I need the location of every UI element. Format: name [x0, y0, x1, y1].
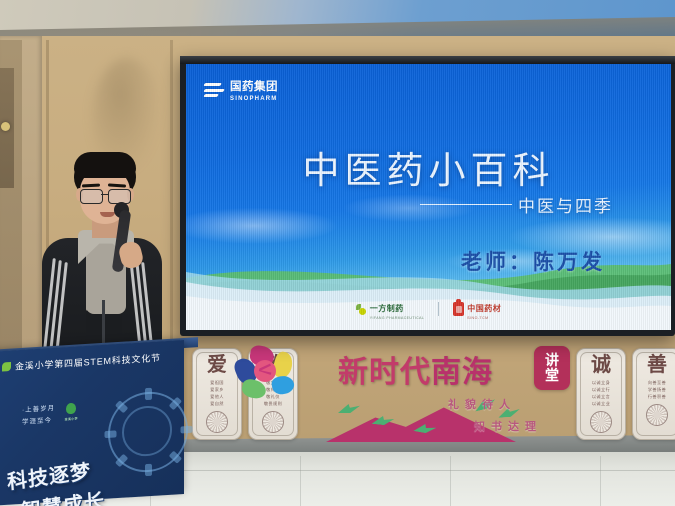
- logo-divider: [438, 302, 439, 316]
- banner-seal-text-2: 堂: [545, 368, 559, 383]
- virtue-line: 以诚立言: [592, 394, 610, 400]
- ice-crack-seal-icon: [590, 411, 612, 433]
- banner-seal: 讲 堂: [534, 346, 570, 390]
- ice-crack-seal-icon: [262, 411, 284, 433]
- ice-crack-seal-icon: [206, 411, 228, 433]
- hair-front: [74, 152, 136, 178]
- screen-surface: 国药集团 SINOPHARM 中医药小百科 中医与四季 老师：陈万发 一方制药: [186, 64, 671, 330]
- screen-bezel: [180, 56, 675, 64]
- partner-name-cn: 中国药材: [467, 304, 501, 313]
- banner-title: 新 时 代 南 海: [338, 358, 493, 388]
- leaf-icon: [2, 361, 11, 371]
- yifang-logo: 一方制药 YIFANG PHARMACEUTICAL: [356, 298, 425, 320]
- yifang-logo-text: 一方制药 YIFANG PHARMACEUTICAL: [370, 298, 425, 320]
- banner-title-char: 时: [369, 358, 399, 388]
- banner-motto: 礼貌待人 知书达理: [448, 396, 542, 434]
- virtue-panel-char: 诚: [591, 355, 611, 375]
- virtue-line: 爱自然: [210, 401, 224, 407]
- door-knob-icon: [1, 122, 10, 131]
- banner-title-char: 南: [431, 358, 461, 388]
- sinopharm-logo: 国药集团 SINOPHARM: [204, 82, 278, 102]
- slide-subtitle: 中医与四季: [420, 192, 613, 217]
- glasses-icon: [78, 189, 132, 202]
- virtue-line: 行善积善: [648, 394, 666, 400]
- podium-banner-text: 金溪小学第四届STEM科技文化节: [15, 350, 161, 372]
- sinopharm-swoosh-icon: [204, 83, 224, 100]
- virtue-line: 爱家乡: [210, 387, 224, 393]
- school-badge-icon: 金溪小学: [63, 403, 79, 422]
- floor-tile-line: [600, 456, 601, 506]
- party-emblem-icon: [234, 346, 308, 408]
- partner-name-en: SINO-TCM: [467, 316, 501, 320]
- floor-tile-line: [450, 456, 451, 506]
- virtue-panel-char: 爱: [207, 355, 227, 375]
- motto-line-1: 礼貌待人: [448, 396, 542, 412]
- slide-presenter: 老师：陈万发: [461, 246, 605, 276]
- partner-name-cn: 一方制药: [370, 304, 404, 313]
- podium-mid-block: ·上善岁月 学涯至今 金溪小学: [22, 401, 79, 426]
- podium-mid-line: 学涯至今: [22, 414, 55, 426]
- motto-line-2: 知书达理: [474, 418, 542, 434]
- bird-icon: [338, 404, 360, 413]
- brand-name-cn: 国药集团: [230, 82, 278, 94]
- gear-icon: [108, 390, 188, 475]
- slide-title: 中医药小百科: [186, 140, 671, 194]
- brand-name-en: SINOPHARM: [230, 96, 278, 102]
- virtue-line: 以诚立业: [592, 401, 610, 407]
- lens: [80, 189, 103, 204]
- virtue-line: 爱他人: [210, 394, 224, 400]
- virtue-panel-lines: 以诚立身 以诚立行 以诚立言 以诚立业: [592, 380, 610, 407]
- sinotcm-logo: 中国药材 SINO-TCM: [453, 298, 501, 320]
- lecture-room-photo: 爱 爱祖国 爱家乡 爱他人 爱自然 敬 敬父母 敬师长 敬礼仪 敬畏规则: [0, 0, 675, 506]
- virtue-panel-shan: 善 向善至善 学善扬善 行善积善: [632, 348, 675, 440]
- virtue-line: 以诚立行: [592, 387, 610, 393]
- virtue-panel-char: 善: [647, 355, 667, 375]
- virtue-panel-lines: 爱祖国 爱家乡 爱他人 爱自然: [210, 380, 224, 407]
- banner-title-char: 海: [462, 358, 492, 388]
- school-badge-label: 金溪小学: [63, 417, 79, 422]
- banner-title-char: 新: [338, 358, 368, 388]
- slide-partner-logos: 一方制药 YIFANG PHARMACEUTICAL 中国药材 SINO-TCM: [186, 298, 671, 320]
- leaf-icon: [356, 304, 367, 315]
- banner-title-char: 代: [400, 358, 430, 388]
- subtitle-rule: [420, 204, 512, 206]
- floor-tile-line: [300, 456, 301, 506]
- virtue-line: 向善至善: [648, 380, 666, 386]
- virtue-panel-cheng: 诚 以诚立身 以诚立行 以诚立言 以诚立业: [576, 348, 626, 440]
- virtue-line: 以诚立身: [592, 380, 610, 386]
- ice-crack-seal-icon: [646, 404, 668, 426]
- presentation-slide: 国药集团 SINOPHARM 中医药小百科 中医与四季 老师：陈万发 一方制药: [186, 64, 671, 330]
- podium-mid-line: ·上善岁月: [22, 402, 55, 414]
- virtue-line: 学善扬善: [648, 387, 666, 393]
- subtitle-text: 中医与四季: [518, 192, 613, 217]
- virtue-panel-lines: 向善至善 学善扬善 行善积善: [648, 380, 666, 400]
- podium-mid-lines: ·上善岁月 学涯至今: [22, 402, 55, 426]
- virtue-line: 爱祖国: [210, 380, 224, 386]
- sinotcm-logo-text: 中国药材 SINO-TCM: [467, 298, 501, 320]
- medicine-box-icon: [453, 302, 464, 316]
- sinopharm-logo-text: 国药集团 SINOPHARM: [230, 82, 278, 102]
- wall-banner: 爱 爱祖国 爱家乡 爱他人 爱自然 敬 敬父母 敬师长 敬礼仪 敬畏规则: [186, 344, 675, 440]
- display-screen[interactable]: 国药集团 SINOPHARM 中医药小百科 中医与四季 老师：陈万发 一方制药: [180, 56, 675, 336]
- banner-seal-text-1: 讲: [545, 353, 559, 368]
- partner-name-en: YIFANG PHARMACEUTICAL: [370, 316, 425, 320]
